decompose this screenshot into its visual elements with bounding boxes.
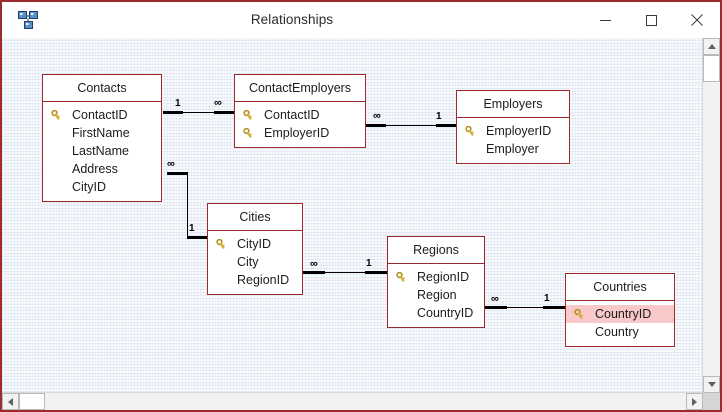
key-slot-empty [51,126,67,140]
cardinality-many: ∞ [310,259,317,269]
scroll-left-arrow[interactable] [2,393,19,410]
field-name: CityID [232,235,271,253]
key-icon [51,108,67,122]
field-row[interactable]: CityID [43,178,161,196]
key-icon [243,108,259,122]
table-title: Contacts [43,75,161,102]
relationships-icon [18,11,38,29]
field-row[interactable]: ContactID [235,106,365,124]
field-name: EmployerID [481,122,551,140]
field-row-selected[interactable]: CountryID [566,305,674,323]
table-box-cities[interactable]: Cities CityID City RegionID [207,203,303,295]
field-row[interactable]: EmployerID [235,124,365,142]
key-icon [574,307,590,321]
cardinality-one: 1 [189,224,195,234]
field-name: Country [590,323,639,341]
key-icon [465,124,481,138]
field-name: CountryID [412,304,473,322]
field-name: LastName [67,142,129,160]
cardinality-one: 1 [544,294,550,304]
key-slot-empty [216,273,232,287]
field-row[interactable]: Region [388,286,484,304]
key-slot-empty [51,180,67,194]
scroll-up-arrow[interactable] [703,38,720,55]
key-slot-empty [396,306,412,320]
field-row[interactable]: Address [43,160,161,178]
key-icon [216,237,232,251]
field-list: ContactID FirstName LastName Address Cit… [43,102,161,201]
horizontal-scrollbar[interactable] [2,392,703,410]
field-name: Address [67,160,118,178]
cardinality-one: 1 [436,112,442,122]
field-row[interactable]: CountryID [388,304,484,322]
table-title: ContactEmployers [235,75,365,102]
field-name: ContactID [67,106,128,124]
key-slot-empty [216,255,232,269]
vertical-scroll-thumb[interactable] [703,55,720,82]
key-icon [396,270,412,284]
field-name: RegionID [232,271,289,289]
field-name: Region [412,286,457,304]
cardinality-many: ∞ [373,111,380,121]
table-title: Regions [388,237,484,264]
table-title: Employers [457,91,569,118]
key-slot-empty [396,288,412,302]
field-name: Employer [481,140,539,158]
relationships-window: Relationships 1 ∞ ∞ 1 [0,0,722,412]
table-box-employers[interactable]: Employers EmployerID Employer [456,90,570,164]
field-row[interactable]: EmployerID [457,122,569,140]
field-name: CountryID [590,305,651,323]
cardinality-many: ∞ [491,294,498,304]
chevron-left-icon [8,398,13,406]
field-row[interactable]: LastName [43,142,161,160]
field-name: ContactID [259,106,320,124]
table-box-contactemployers[interactable]: ContactEmployers ContactID EmployerID [234,74,366,148]
field-name: CityID [67,178,106,196]
field-row[interactable]: Employer [457,140,569,158]
chevron-down-icon [708,382,716,387]
chevron-right-icon [692,398,697,406]
field-row[interactable]: RegionID [388,268,484,286]
scrollbar-corner [703,393,720,410]
table-box-countries[interactable]: Countries CountryID Country [565,273,675,347]
field-name: FirstName [67,124,130,142]
page-title: Relationships [2,3,582,37]
field-row[interactable]: RegionID [208,271,302,289]
table-title: Countries [566,274,674,301]
horizontal-scroll-thumb[interactable] [19,393,45,410]
close-button[interactable] [674,3,720,37]
cardinality-one: 1 [366,259,372,269]
field-row[interactable]: CityID [208,235,302,253]
key-slot-empty [51,162,67,176]
key-slot-empty [574,325,590,339]
field-row[interactable]: ContactID [43,106,161,124]
table-title: Cities [208,204,302,231]
table-box-contacts[interactable]: Contacts ContactID FirstName LastName [42,74,162,202]
field-row[interactable]: Country [566,323,674,341]
field-row[interactable]: City [208,253,302,271]
field-row[interactable]: FirstName [43,124,161,142]
field-name: EmployerID [259,124,329,142]
key-slot-empty [465,142,481,156]
field-list: CountryID Country [566,301,674,346]
field-name: RegionID [412,268,469,286]
vertical-scrollbar[interactable] [702,38,720,393]
field-list: ContactID EmployerID [235,102,365,147]
key-icon [243,126,259,140]
cardinality-one: 1 [175,99,181,109]
field-list: EmployerID Employer [457,118,569,163]
field-list: CityID City RegionID [208,231,302,294]
cardinality-many: ∞ [214,98,221,108]
field-list: RegionID Region CountryID [388,264,484,327]
title-bar: Relationships [2,2,720,39]
table-box-regions[interactable]: Regions RegionID Region CountryID [387,236,485,328]
minimize-button[interactable] [582,3,628,37]
scroll-right-arrow[interactable] [686,393,703,410]
scroll-down-arrow[interactable] [703,376,720,393]
chevron-up-icon [708,44,716,49]
relationships-canvas[interactable]: 1 ∞ ∞ 1 ∞ 1 ∞ 1 [2,38,720,410]
cardinality-many: ∞ [167,159,174,169]
field-name: City [232,253,259,271]
key-slot-empty [51,144,67,158]
maximize-button[interactable] [628,3,674,37]
